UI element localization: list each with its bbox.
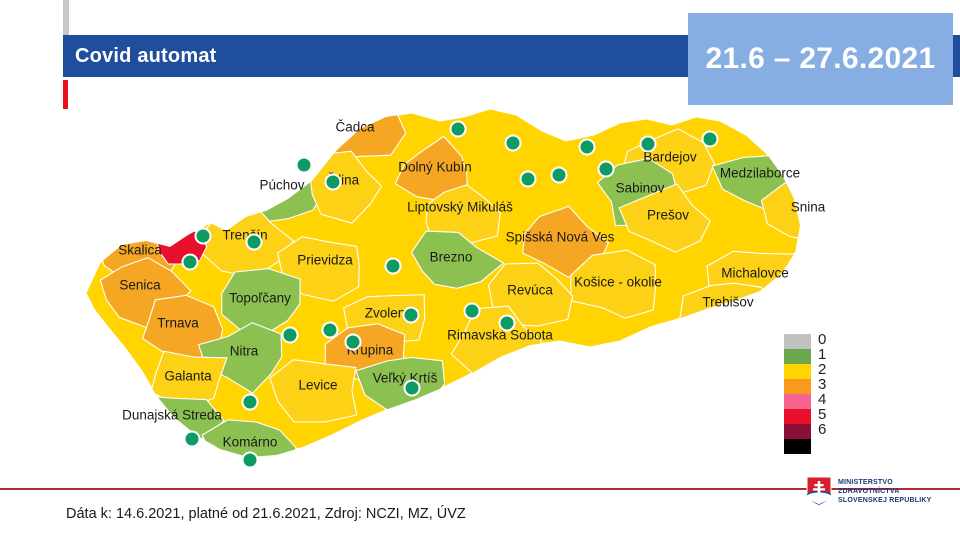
- gray-accent-bar: [63, 0, 69, 35]
- legend-level-label: 4: [818, 392, 826, 407]
- map-marker-dot[interactable]: [345, 334, 362, 351]
- legend-swatch: [784, 424, 811, 439]
- map-marker-dot[interactable]: [450, 121, 467, 138]
- map-marker-dot[interactable]: [640, 136, 657, 153]
- legend: 0123456: [784, 334, 826, 454]
- map-marker-dot[interactable]: [520, 171, 537, 188]
- ministry-logo-text: MINISTERSTVO ZDRAVOTNÍCTVA SLOVENSKEJ RE…: [838, 478, 931, 505]
- slide-root: Covid automat 21.6 – 27.6.2021 ČadcaDoln…: [0, 0, 960, 540]
- map-marker-dot[interactable]: [403, 307, 420, 324]
- map-marker-dot[interactable]: [195, 228, 212, 245]
- map-marker-dot[interactable]: [282, 327, 299, 344]
- page-title: Covid automat: [75, 45, 217, 68]
- ministry-line-3: SLOVENSKEJ REPUBLIKY: [838, 496, 931, 505]
- map-marker-dot[interactable]: [464, 303, 481, 320]
- legend-swatch: [784, 349, 811, 364]
- map-marker-dot[interactable]: [551, 167, 568, 184]
- legend-row-6: 6: [784, 424, 826, 439]
- legend-swatch: [784, 364, 811, 379]
- legend-swatch: [784, 409, 811, 424]
- map-marker-dot[interactable]: [242, 452, 259, 469]
- ministry-logo: MINISTERSTVO ZDRAVOTNÍCTVA SLOVENSKEJ RE…: [806, 474, 946, 508]
- slovakia-map[interactable]: ČadcaDolný KubínPúchovŽilinaLiptovský Mi…: [60, 95, 820, 475]
- legend-level-label: 2: [818, 362, 826, 377]
- map-svg: [60, 95, 820, 475]
- date-range-badge: 21.6 – 27.6.2021: [688, 13, 953, 105]
- map-marker-dot[interactable]: [184, 431, 201, 448]
- map-region-adca[interactable]: [309, 102, 405, 158]
- legend-swatch: [784, 334, 811, 349]
- legend-level-label: 5: [818, 407, 826, 422]
- map-marker-dot[interactable]: [598, 161, 615, 178]
- ministry-line-2: ZDRAVOTNÍCTVA: [838, 487, 931, 496]
- source-note: Dáta k: 14.6.2021, platné od 21.6.2021, …: [66, 506, 466, 522]
- map-marker-dot[interactable]: [322, 322, 339, 339]
- map-marker-dot[interactable]: [385, 258, 402, 275]
- map-marker-dot[interactable]: [579, 139, 596, 156]
- legend-swatch: [784, 439, 811, 454]
- ministry-line-1: MINISTERSTVO: [838, 478, 931, 487]
- legend-level-label: 6: [818, 422, 826, 437]
- legend-level-label: 1: [818, 347, 826, 362]
- legend-level-label: 0: [818, 332, 826, 347]
- map-marker-dot[interactable]: [242, 394, 259, 411]
- legend-row-max: [784, 439, 826, 454]
- legend-swatch: [784, 379, 811, 394]
- slovak-shield-icon: [806, 476, 832, 506]
- map-marker-dot[interactable]: [404, 380, 421, 397]
- legend-swatch: [784, 394, 811, 409]
- map-marker-dot[interactable]: [505, 135, 522, 152]
- date-range-label: 21.6 – 27.6.2021: [705, 42, 935, 76]
- map-marker-dot[interactable]: [325, 174, 342, 191]
- map-marker-dot[interactable]: [702, 131, 719, 148]
- map-marker-dot[interactable]: [499, 315, 516, 332]
- map-marker-dot[interactable]: [296, 157, 313, 174]
- map-marker-dot[interactable]: [246, 234, 263, 251]
- map-marker-dot[interactable]: [182, 254, 199, 271]
- legend-level-label: 3: [818, 377, 826, 392]
